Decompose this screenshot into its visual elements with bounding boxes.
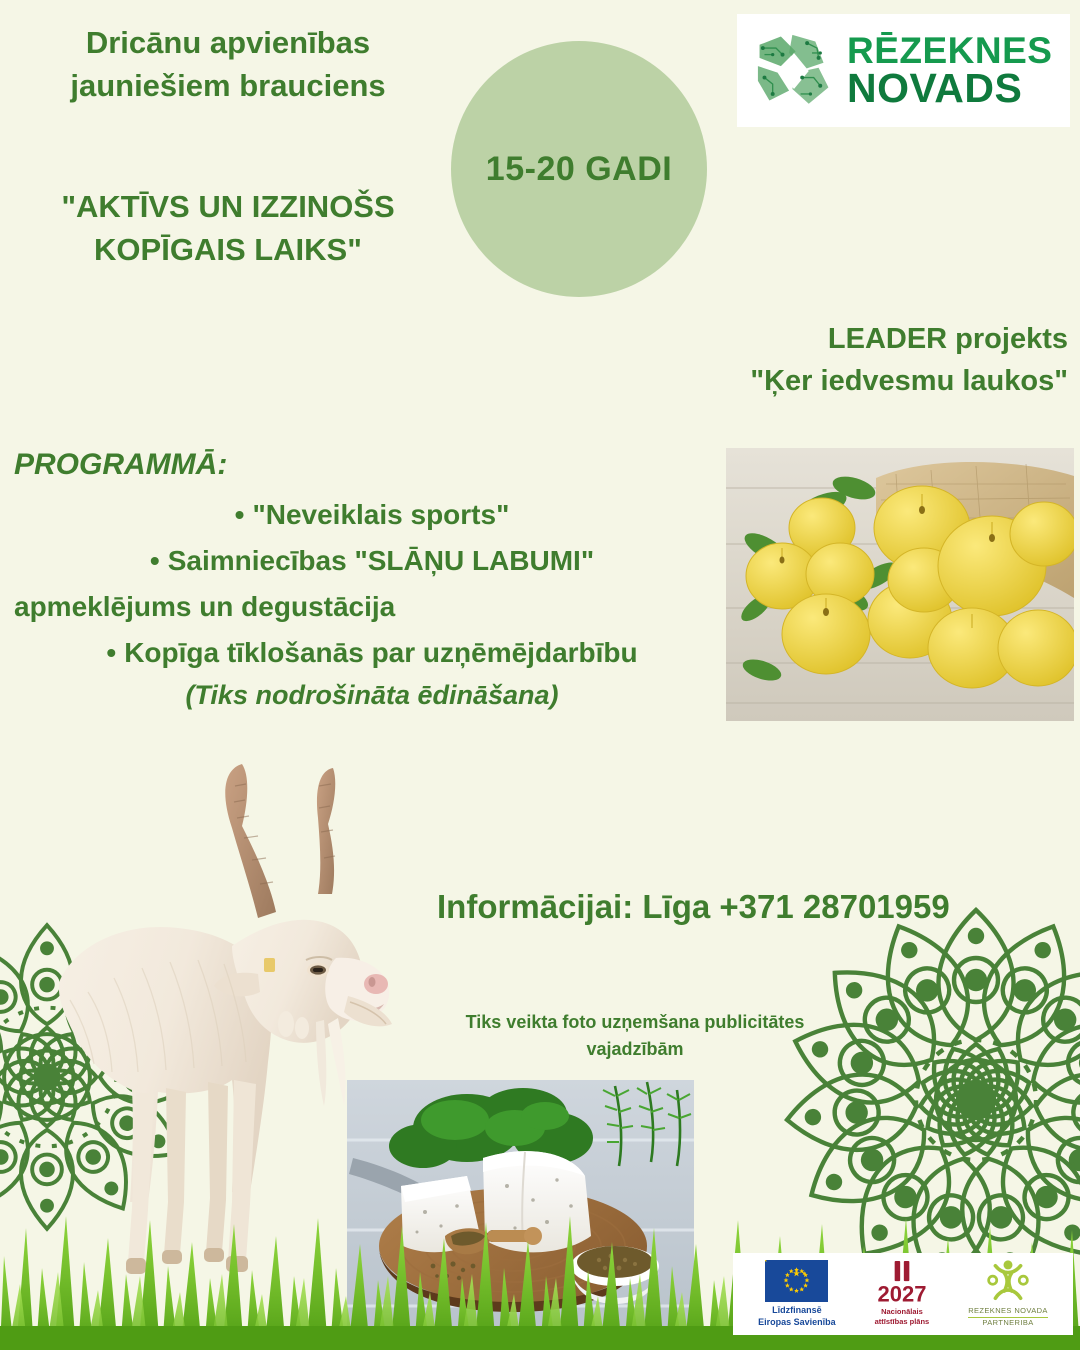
bullet-icon: • — [235, 499, 245, 530]
title-line-2: jauniešiem brauciens — [8, 65, 448, 108]
partneriba-caption-line-2: PARTNERIBA — [982, 1318, 1033, 1327]
logo-line-rezeknes: RĒZEKNES — [847, 33, 1052, 68]
photo-consent-line-2: vajadzībām — [420, 1036, 850, 1063]
programme-section: PROGRAMMĀ: •"Neveiklais sports" •Saimnie… — [14, 448, 730, 711]
funder-nacionalais-attistibas-plans: 2027 Nacionālais attīstības plāns — [874, 1261, 930, 1326]
contact-info: Informācijai: Līga +371 28701959 — [437, 888, 950, 926]
partneriba-figure-icon — [981, 1260, 1035, 1304]
programme-item-1: •"Neveiklais sports" — [14, 496, 730, 534]
programme-item-2-continued-label: apmeklējums un degustācija — [14, 591, 395, 622]
leader-project-block: LEADER projekts "Ķer iedvesmu laukos" — [638, 318, 1068, 402]
funder-european-union: Līdzfinansē Eiropas Savienība — [758, 1260, 836, 1328]
eu-caption-line-2: Eiropas Savienība — [758, 1317, 836, 1328]
leader-project-line-2: "Ķer iedvesmu laukos" — [638, 360, 1068, 402]
age-range-label: 15-20 GADI — [486, 150, 672, 189]
photo-consent-notice: Tiks veikta foto uzņemšana publicitātes … — [420, 1009, 850, 1063]
partneriba-caption-line-1: REZEKNES NOVADA — [968, 1306, 1048, 1318]
programme-heading: PROGRAMMĀ: — [14, 448, 730, 482]
age-range-badge: 15-20 GADI — [451, 41, 707, 297]
programme-item-2-label: Saimniecības "SLĀŅU LABUMI" — [168, 545, 594, 576]
nap-caption: Nacionālais attīstības plāns — [875, 1307, 930, 1326]
funder-rezeknes-novada-partneriba: REZEKNES NOVADA PARTNERIBA — [968, 1260, 1048, 1328]
page-title: Dricānu apvienības jauniešiem brauciens — [8, 22, 448, 108]
subtitle-line-2: KOPĪGAIS LAIKS" — [8, 229, 448, 272]
subtitle-line-1: "AKTĪVS UN IZZINOŠS — [8, 186, 448, 229]
svg-text:2027: 2027 — [877, 1282, 926, 1306]
poster-canvas: Dricānu apvienības jauniešiem brauciens … — [0, 0, 1080, 1350]
programme-item-3-label: Kopīga tīklošanās par uzņēmējdarbību — [124, 637, 637, 668]
programme-item-2-continued: apmeklējums un degustācija — [14, 588, 730, 626]
nap-2027-icon: 2027 — [874, 1261, 930, 1305]
bullet-icon: • — [106, 637, 116, 668]
logo-line-novads: NOVADS — [847, 69, 1052, 108]
photo-consent-line-1: Tiks veikta foto uzņemšana publicitātes — [420, 1009, 850, 1036]
rezeknes-novads-wordmark: RĒZEKNES NOVADS — [847, 33, 1052, 107]
eu-caption-line-1: Līdzfinansē — [758, 1305, 836, 1316]
rezeknes-novads-logo: RĒZEKNES NOVADS — [737, 14, 1070, 127]
eu-flag-icon — [765, 1260, 828, 1302]
rezeknes-novads-emblem-icon — [753, 30, 835, 112]
programme-note: (Tiks nodrošināta ēdināšana) — [14, 680, 730, 711]
programme-item-2: •Saimniecības "SLĀŅU LABUMI" — [14, 542, 730, 580]
mandala-ornament-right-icon — [776, 900, 1080, 1300]
cheese-photo — [347, 1080, 694, 1342]
event-subtitle: "AKTĪVS UN IZZINOŠS KOPĪGAIS LAIKS" — [8, 186, 448, 272]
eu-funding-caption: Līdzfinansē Eiropas Savienība — [758, 1305, 836, 1328]
partneriba-caption: REZEKNES NOVADA PARTNERIBA — [968, 1306, 1048, 1328]
title-line-1: Dricānu apvienības — [8, 22, 448, 65]
nap-caption-line-2: attīstības plāns — [875, 1317, 930, 1327]
programme-item-1-label: "Neveiklais sports" — [252, 499, 509, 530]
quince-photo — [726, 448, 1074, 721]
bullet-icon: • — [150, 545, 160, 576]
nap-caption-line-1: Nacionālais — [875, 1307, 930, 1317]
leader-project-line-1: LEADER projekts — [638, 318, 1068, 360]
funder-logo-strip: Līdzfinansē Eiropas Savienība 2027 Nacio… — [733, 1253, 1073, 1335]
programme-item-3: •Kopīga tīklošanās par uzņēmējdarbību — [14, 634, 730, 672]
